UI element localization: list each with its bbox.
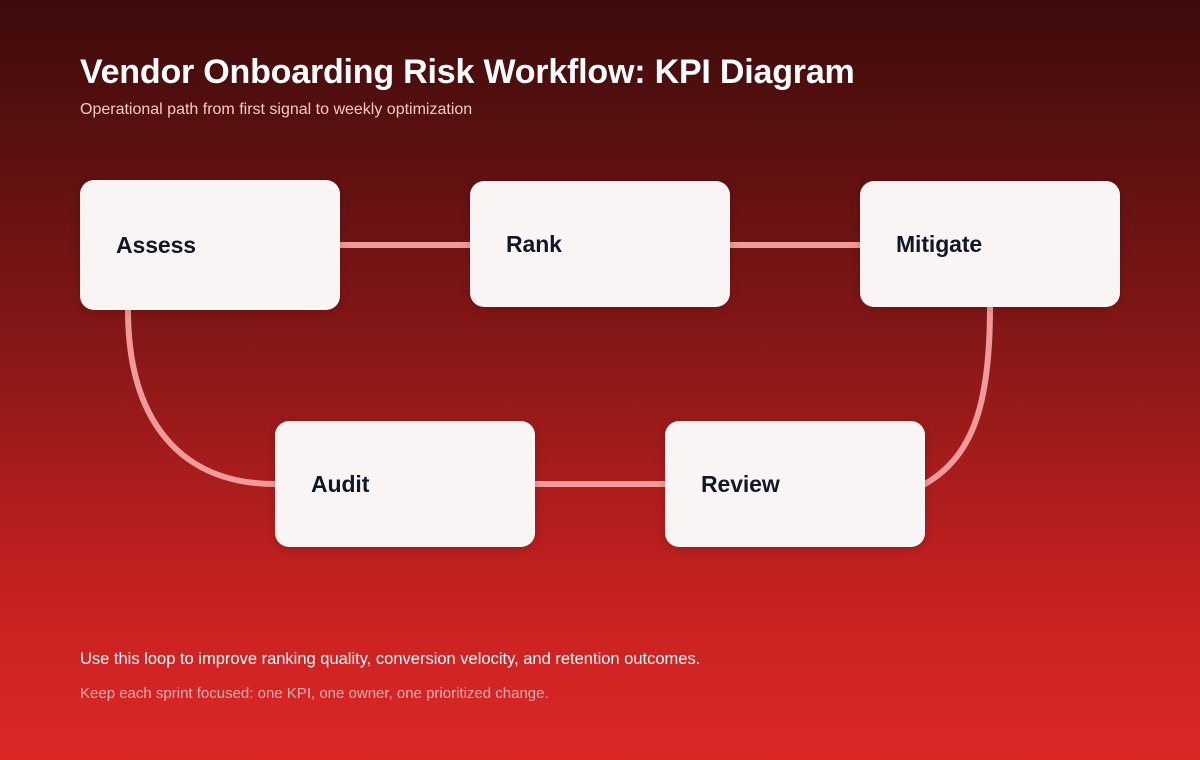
node-review[interactable]: Review: [665, 421, 925, 547]
diagram-canvas: Vendor Onboarding Risk Workflow: KPI Dia…: [0, 0, 1200, 760]
node-audit-label: Audit: [275, 471, 369, 498]
node-mitigate[interactable]: Mitigate: [860, 181, 1120, 307]
node-rank-label: Rank: [470, 231, 562, 258]
footer-primary-text: Use this loop to improve ranking quality…: [80, 648, 1130, 670]
node-audit[interactable]: Audit: [275, 421, 535, 547]
connector-layer: [0, 0, 1200, 760]
node-assess-label: Assess: [80, 232, 196, 259]
footer-secondary-text: Keep each sprint focused: one KPI, one o…: [80, 684, 1130, 704]
node-assess[interactable]: Assess: [80, 180, 340, 310]
node-rank[interactable]: Rank: [470, 181, 730, 307]
footer: Use this loop to improve ranking quality…: [80, 648, 1130, 705]
connector-mitigate-to-review: [925, 307, 990, 484]
node-mitigate-label: Mitigate: [860, 231, 982, 258]
connector-audit-to-assess: [128, 310, 275, 484]
workflow-diagram: Assess Rank Mitigate Audit Review: [0, 0, 1200, 760]
node-review-label: Review: [665, 471, 780, 498]
